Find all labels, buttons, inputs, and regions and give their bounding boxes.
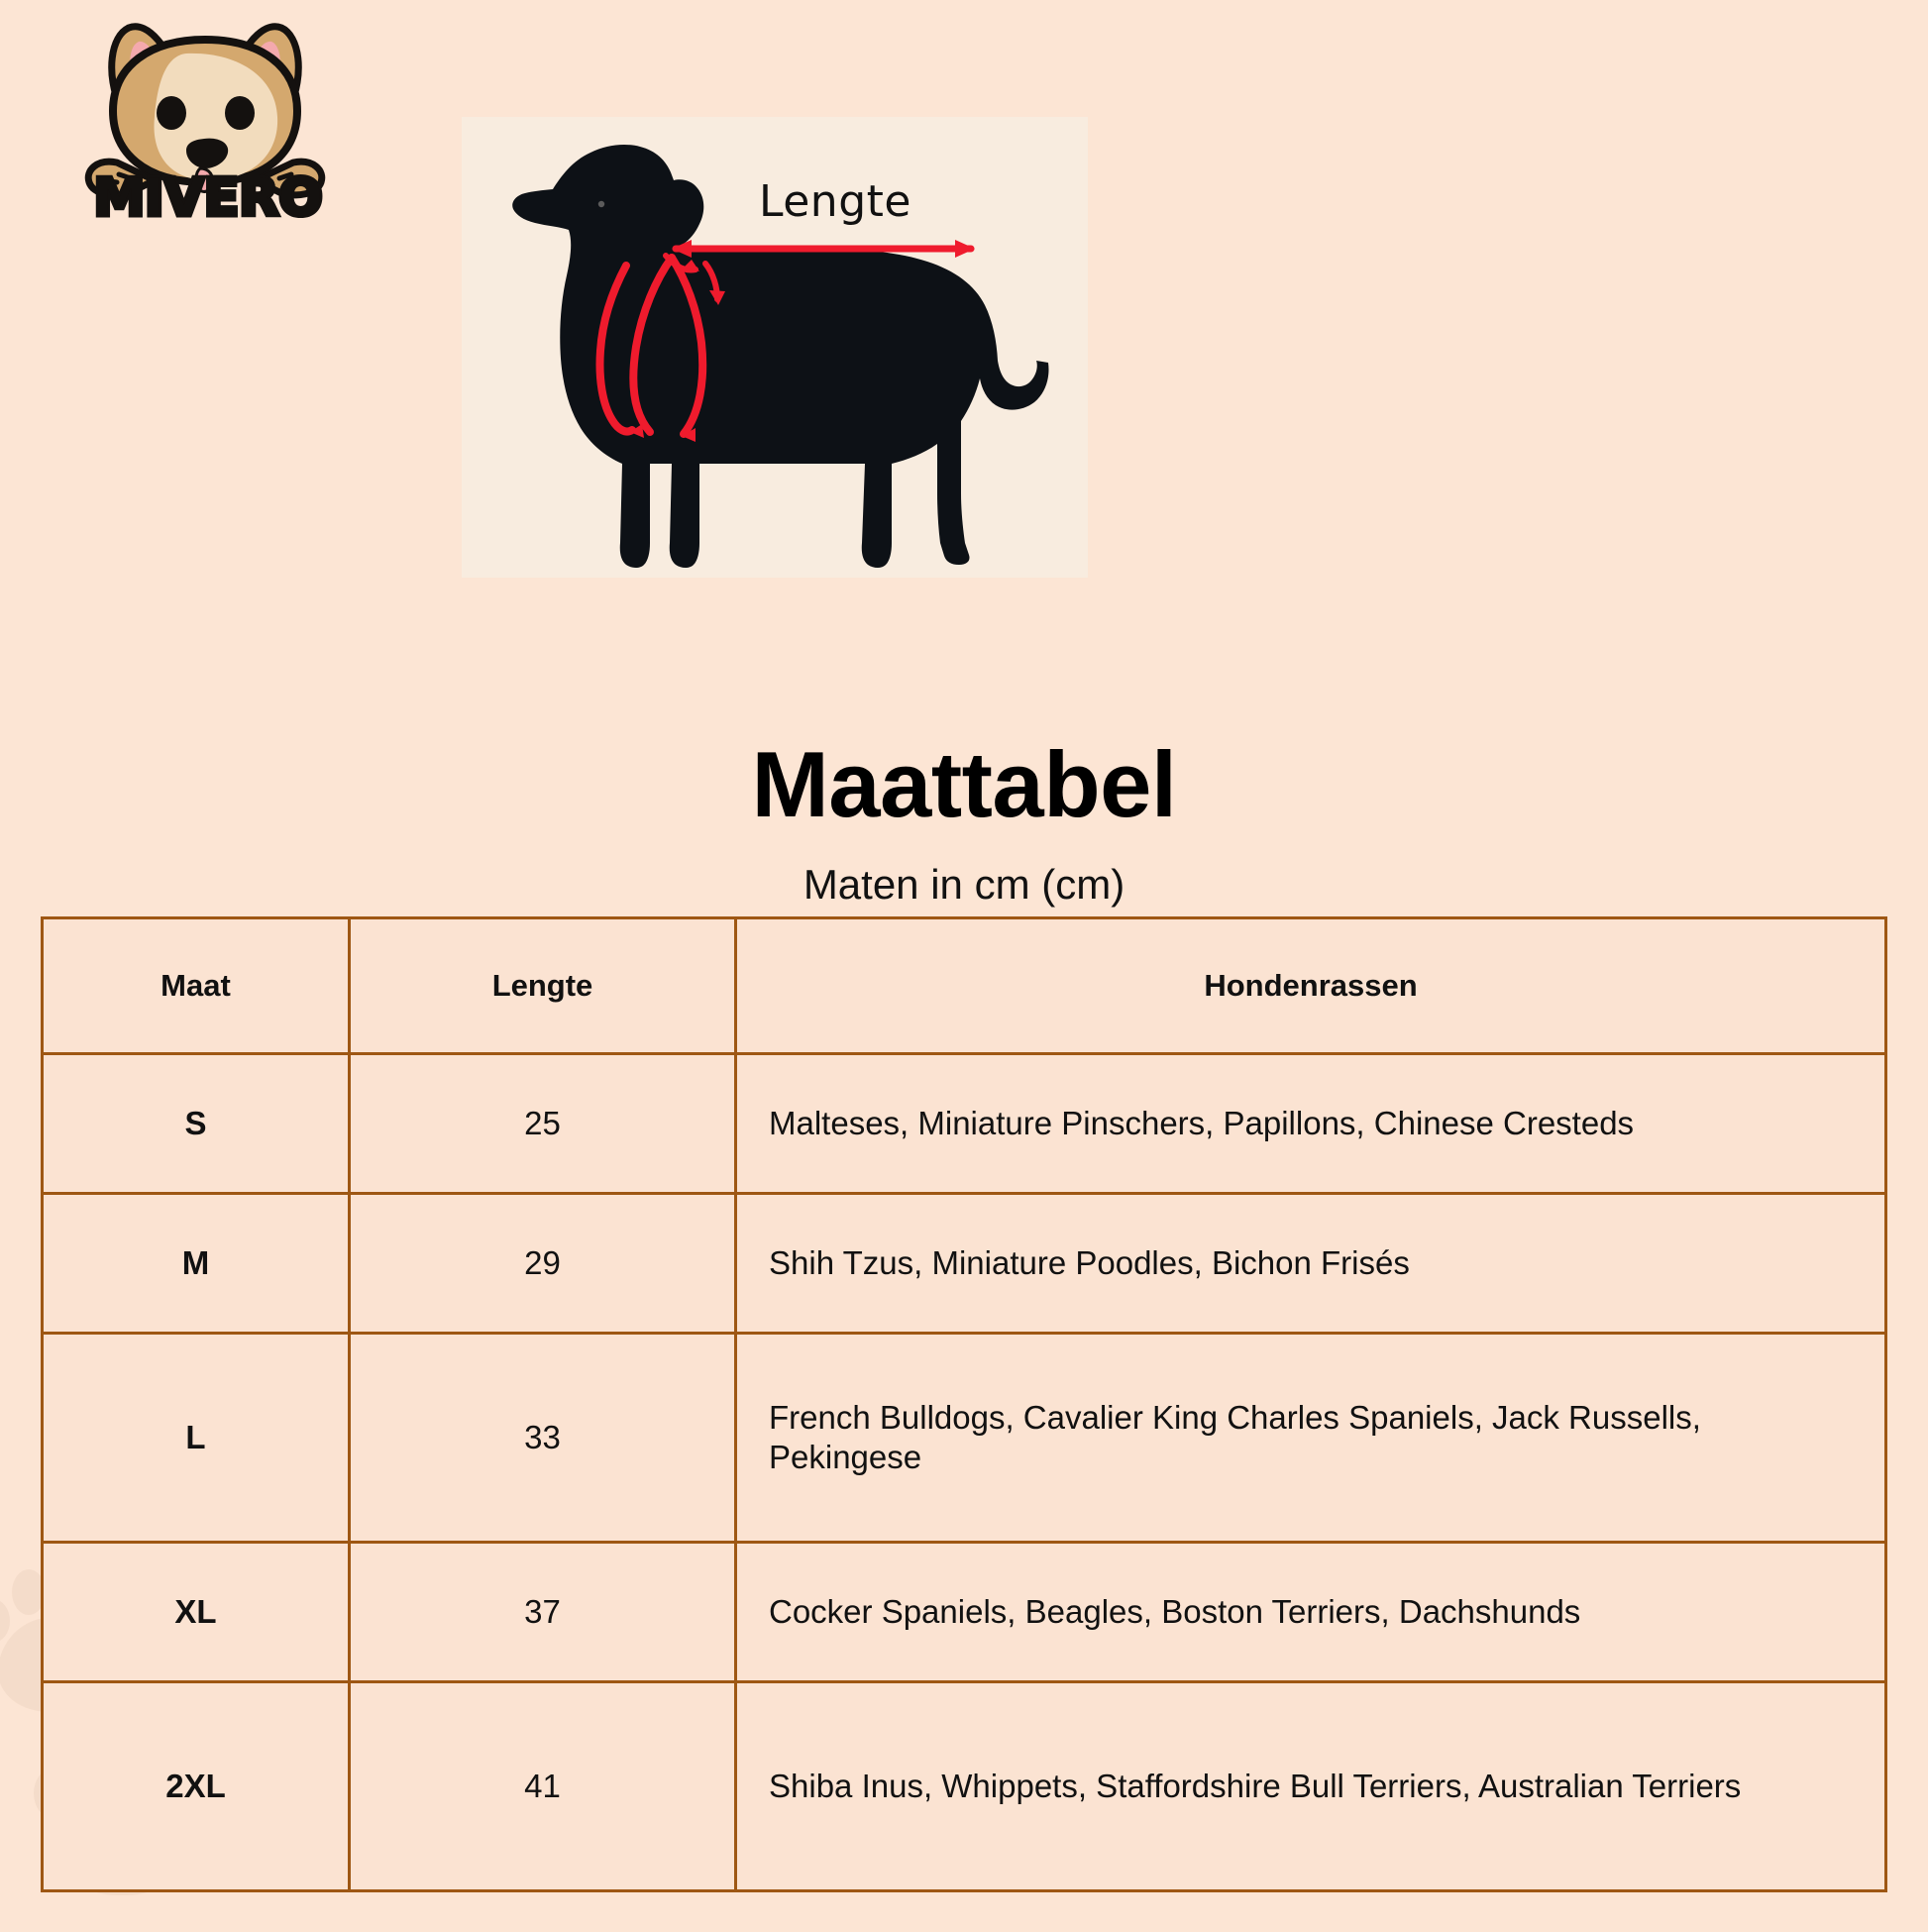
cell-length: 33 [350,1334,736,1543]
page-subtitle: Maten in cm (cm) [0,864,1928,906]
column-header-lengte: Lengte [350,918,736,1054]
cell-breeds: Cocker Spaniels, Beagles, Boston Terrier… [736,1543,1886,1682]
column-header-hondenrassen: Hondenrassen [736,918,1886,1054]
arrow-head-right [955,240,975,258]
measurement-illustration: Lengte [462,117,1088,578]
table-header-row: Maat Lengte Hondenrassen [43,918,1886,1054]
page-title: Maattabel [0,738,1928,831]
table-row: L 33 French Bulldogs, Cavalier King Char… [43,1334,1886,1543]
cell-length: 29 [350,1194,736,1334]
cell-size: M [43,1194,350,1334]
table-row: 2XL 41 Shiba Inus, Whippets, Staffordshi… [43,1682,1886,1891]
cell-breeds: French Bulldogs, Cavalier King Charles S… [736,1334,1886,1543]
table-body: S 25 Malteses, Miniature Pinschers, Papi… [43,1054,1886,1891]
brand-logo: MIVERO [59,14,357,222]
dog-face-logo-icon: MIVERO [59,14,357,222]
size-table-container: Maat Lengte Hondenrassen S 25 Malteses, … [41,916,1887,1892]
cell-breeds: Shiba Inus, Whippets, Staffordshire Bull… [736,1682,1886,1891]
brand-wordmark: MIVERO [93,168,322,222]
cell-size: S [43,1054,350,1194]
cell-length: 37 [350,1543,736,1682]
lengte-label: Lengte [759,176,911,227]
size-chart-page: { "brand": { "name": "MIVERO", "logo_ico… [0,0,1928,1928]
cell-breeds: Shih Tzus, Miniature Poodles, Bichon Fri… [736,1194,1886,1334]
table-head: Maat Lengte Hondenrassen [43,918,1886,1054]
table-row: M 29 Shih Tzus, Miniature Poodles, Bicho… [43,1194,1886,1334]
cell-breeds: Malteses, Miniature Pinschers, Papillons… [736,1054,1886,1194]
size-table: Maat Lengte Hondenrassen S 25 Malteses, … [41,916,1887,1892]
cell-length: 25 [350,1054,736,1194]
cell-size: L [43,1334,350,1543]
table-row: XL 37 Cocker Spaniels, Beagles, Boston T… [43,1543,1886,1682]
column-header-maat: Maat [43,918,350,1054]
cell-length: 41 [350,1682,736,1891]
table-row: S 25 Malteses, Miniature Pinschers, Papi… [43,1054,1886,1194]
cell-size: XL [43,1543,350,1682]
cell-size: 2XL [43,1682,350,1891]
